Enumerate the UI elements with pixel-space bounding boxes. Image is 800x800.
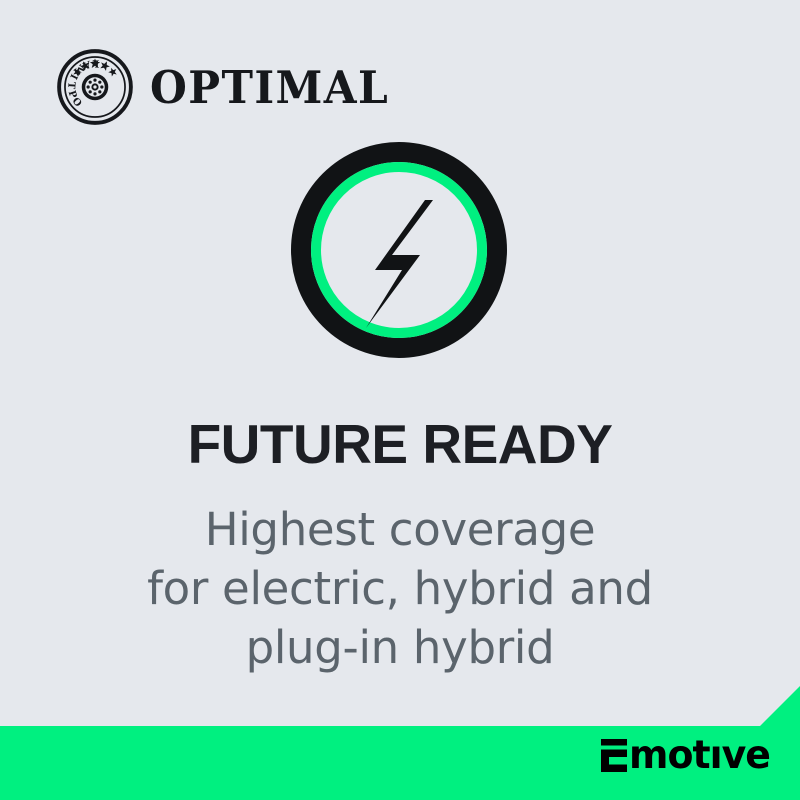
promo-card: O P T I M A L: [0, 0, 800, 800]
brand-header: O P T I M A L: [56, 48, 404, 126]
footer-band: motıve: [0, 686, 800, 800]
page-title: FUTURE READY: [0, 416, 800, 474]
hero-emblem: [291, 142, 507, 358]
emotive-logo-text: motıve: [629, 739, 770, 772]
brand-wordmark: OPTIMAL: [150, 65, 389, 110]
optimal-badge-icon: O P T I M A L: [56, 48, 134, 126]
subhead-line-1: Highest coverage: [0, 500, 800, 559]
lightning-bolt-icon: [366, 200, 433, 328]
emotive-logo: motıve: [601, 732, 774, 772]
svg-text:T: T: [65, 81, 77, 90]
emotive-e-bars-icon: [601, 739, 627, 772]
subhead: Highest coverage for electric, hybrid an…: [0, 500, 800, 677]
svg-text:L: L: [92, 57, 99, 68]
subhead-line-3: plug-in hybrid: [0, 618, 800, 677]
subhead-line-2: for electric, hybrid and: [0, 559, 800, 618]
